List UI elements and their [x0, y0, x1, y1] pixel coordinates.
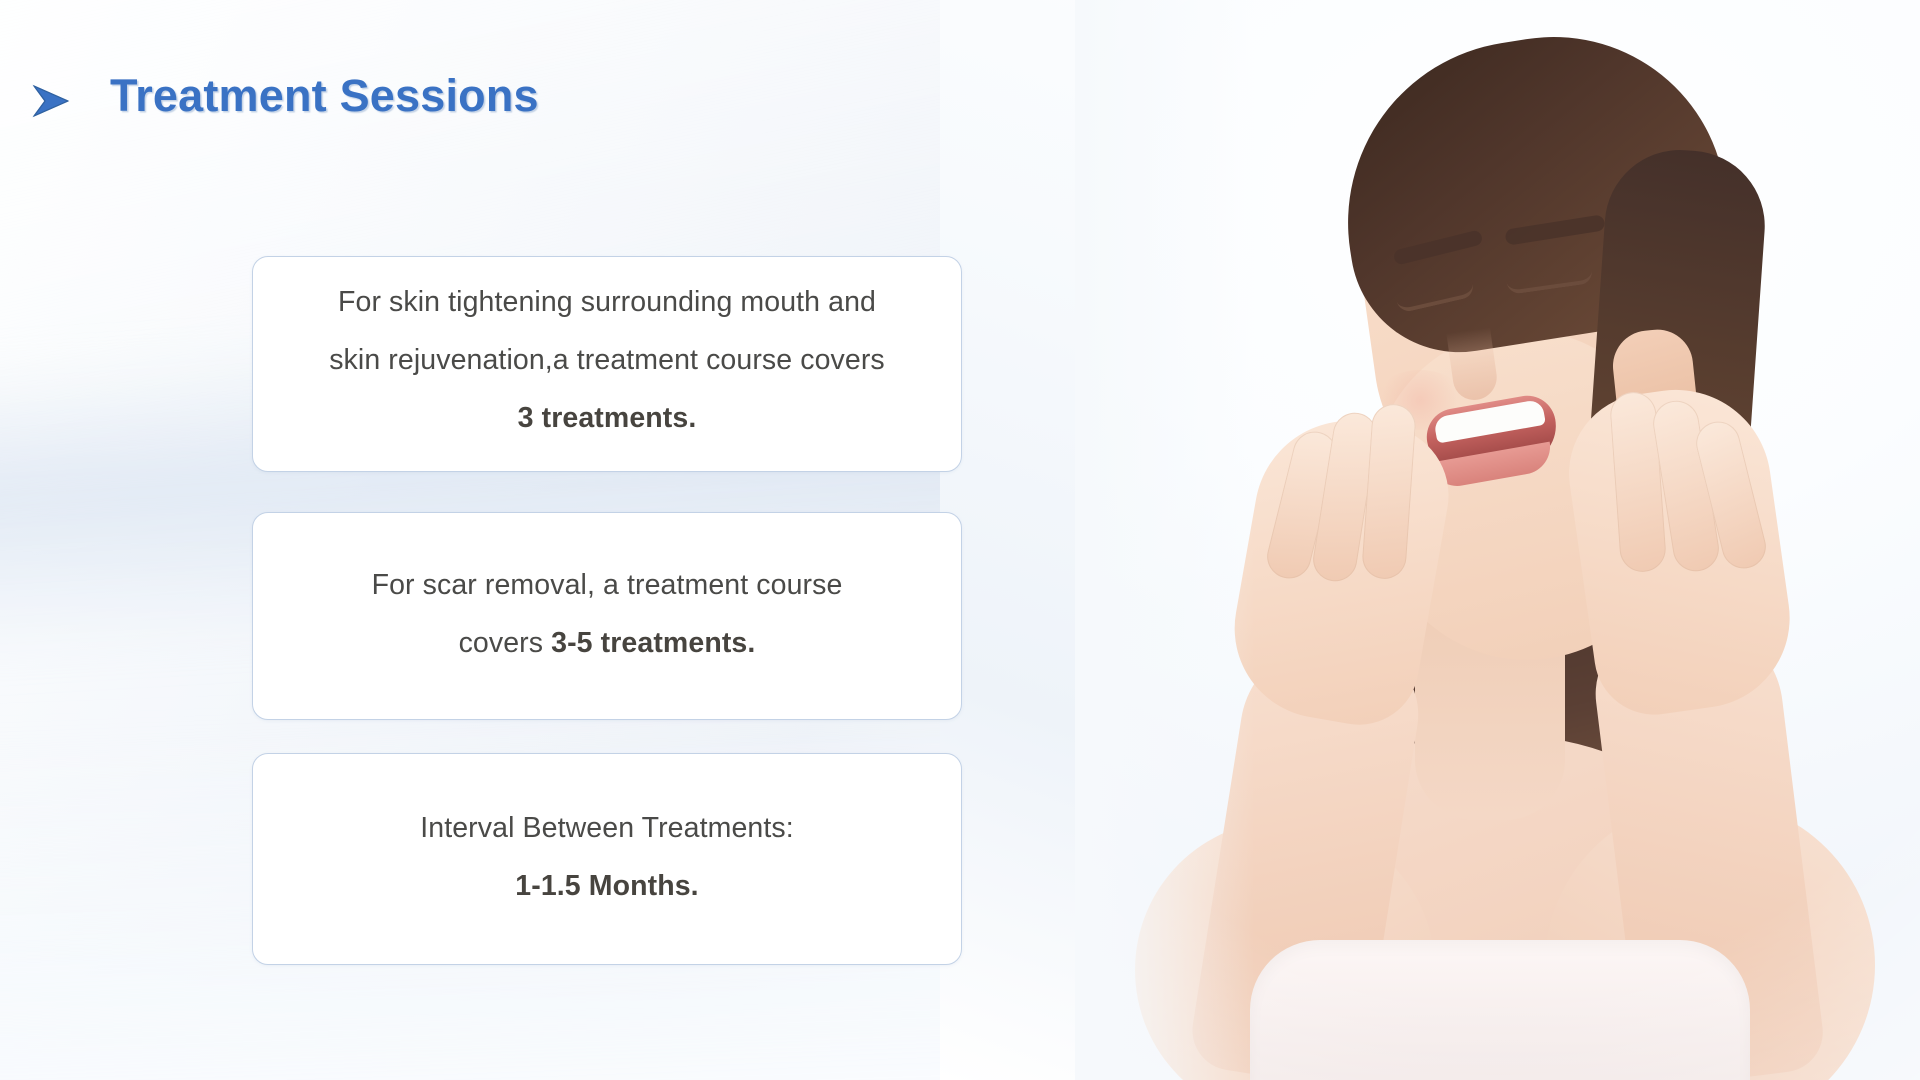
page-title: Treatment Sessions	[28, 68, 539, 124]
card-line-emphasis: 3 treatments.	[329, 389, 885, 447]
treatment-cards-group: For skin tightening surrounding mouth an…	[252, 256, 962, 965]
model-photo	[1075, 0, 1920, 1080]
slide-canvas: Treatment Sessions For skin tightening s…	[0, 0, 1920, 1080]
card-line: For scar removal, a treatment course	[372, 556, 843, 614]
card-line-emphasis-part: 3-5 treatments.	[551, 627, 755, 659]
card-line-mixed: covers 3-5 treatments.	[372, 614, 843, 672]
card-body: Interval Between Treatments: 1-1.5 Month…	[420, 799, 793, 915]
card-line-emphasis: 1-1.5 Months.	[420, 857, 793, 915]
card-body: For scar removal, a treatment course cov…	[372, 556, 843, 672]
card-line-normal-part: covers	[459, 627, 552, 659]
card-body: For skin tightening surrounding mouth an…	[329, 273, 885, 447]
arrowhead-bullet-icon	[28, 78, 74, 124]
card-line: Interval Between Treatments:	[420, 799, 793, 857]
skin-tightening-card[interactable]: For skin tightening surrounding mouth an…	[252, 256, 962, 472]
card-line: skin rejuvenation,a treatment course cov…	[329, 331, 885, 389]
scar-removal-card[interactable]: For scar removal, a treatment course cov…	[252, 512, 962, 720]
bandeau-top	[1250, 940, 1750, 1080]
page-title-text: Treatment Sessions	[110, 70, 539, 122]
interval-card[interactable]: Interval Between Treatments: 1-1.5 Month…	[252, 753, 962, 965]
card-line: For skin tightening surrounding mouth an…	[329, 273, 885, 331]
